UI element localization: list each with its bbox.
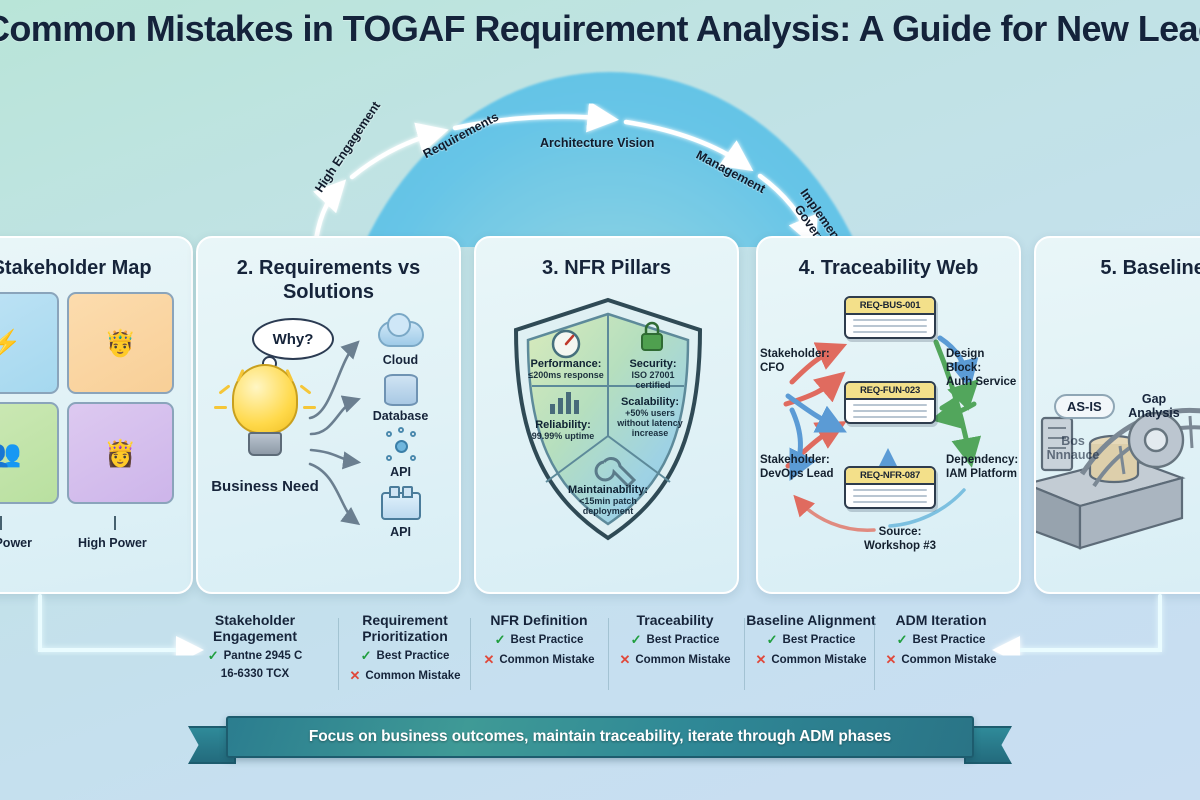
legend-good-3: ✓ Best Practice (464, 632, 614, 648)
legend-good-text-3: Best Practice (511, 634, 584, 646)
page-title: Common Mistakes in TOGAF Requirement Ana… (0, 8, 1200, 50)
why-thought-bubble: Why? (252, 318, 334, 360)
pillar-performance-detail: ≤200ms response (528, 370, 604, 380)
as-is-tag: AS-IS (1054, 394, 1115, 419)
quadrant-crowned-green-icon: 🤴 (67, 292, 174, 394)
power-interest-grid: ⚡ 🤴 👥 👸 (0, 292, 174, 504)
check-icon: ✓ (897, 632, 908, 648)
card-1-body: ⚡ 🤴 👥 👸 Low Power High Power (0, 286, 191, 562)
shield-shape (476, 286, 739, 562)
server-label: Bos Nnnauce (1038, 434, 1108, 463)
legend-bad-text-3: Common Mistake (499, 654, 594, 666)
legend-good-text-4: Best Practice (647, 634, 720, 646)
solution-api-2: API (348, 488, 453, 539)
legend-good-text-5: Best Practice (783, 634, 856, 646)
lightbulb-icon (222, 364, 308, 468)
node-stakeholder-cfo: Stakeholder:CFO (760, 348, 830, 376)
legend-item-4: Traceability ✓ Best Practice ✕ Common Mi… (600, 612, 750, 668)
legend-good-text-1: Pantne 2945 C (224, 650, 303, 662)
cross-icon: ✕ (483, 652, 494, 668)
legend-good-2: ✓ Best Practice (330, 648, 480, 664)
legend-bad-5: ✕ Common Mistake (736, 652, 886, 668)
legend-title-5: Baseline Alignment (736, 612, 886, 628)
adm-cycle-arc: High Engagement Requirements Architectur… (0, 62, 1200, 247)
quadrant-crowd-icon: 👥 (0, 402, 59, 504)
legend-good-text-6: Best Practice (913, 634, 986, 646)
api-network-icon (348, 428, 453, 464)
requirement-id-2: REQ-FUN-023 (846, 383, 934, 400)
solution-api: API (348, 428, 453, 479)
pillar-security-detail: ISO 27001 certified (614, 370, 692, 390)
card-1-heading: 1. Stakeholder Map (0, 256, 191, 280)
axis-label-low-power: Low Power (0, 536, 32, 550)
pillar-performance: Performance: ≤200ms response (528, 358, 604, 380)
pillar-reliability-detail: 99.99% uptime (528, 431, 598, 441)
pillar-security: Security: ISO 27001 certified (614, 358, 692, 390)
legend-row: Stakeholder Engagement ✓ Pantne 2945 C 1… (0, 612, 1200, 704)
legend-item-1: Stakeholder Engagement ✓ Pantne 2945 C 1… (180, 612, 330, 680)
pillar-security-name: Security: (614, 358, 692, 370)
legend-bad-6: ✕ Common Mistake (866, 652, 1016, 668)
solution-database-label: Database (348, 409, 453, 423)
card-2-heading: 2. Requirements vs Solutions (198, 256, 459, 304)
cross-icon: ✕ (349, 668, 360, 684)
legend-item-3: NFR Definition ✓ Best Practice ✕ Common … (464, 612, 614, 668)
legend-title-1: Stakeholder Engagement (180, 612, 330, 644)
legend-good-4: ✓ Best Practice (600, 632, 750, 648)
legend-bad-text-4: Common Mistake (635, 654, 730, 666)
card-row: 1. Stakeholder Map ⚡ 🤴 👥 👸 Low Power Hig… (0, 236, 1200, 596)
legend-bad-text-5: Common Mistake (771, 654, 866, 666)
requirement-id-3: REQ-NFR-087 (846, 468, 934, 485)
legend-title-4: Traceability (600, 612, 750, 628)
card-5-body: AS-IS GapAnalysis Wio… Wio… Bos Nnnauce (1036, 286, 1200, 562)
card-nfr-pillars[interactable]: 3. NFR Pillars (474, 236, 739, 594)
bridge-illustration (1036, 296, 1200, 562)
legend-good-5: ✓ Best Practice (736, 632, 886, 648)
legend-good-6: ✓ Best Practice (866, 632, 1016, 648)
card-baseline-bridge[interactable]: 5. Baseline Br (1034, 236, 1200, 594)
page-title-bar: Common Mistakes in TOGAF Requirement Ana… (0, 0, 1200, 62)
quadrant-crowned-blue-icon: 👸 (67, 402, 174, 504)
solution-cloud-label: Cloud (348, 353, 453, 367)
card-requirements-vs-solutions[interactable]: 2. Requirements vs Solutions Why? (196, 236, 461, 594)
arc-arrows (0, 62, 1200, 247)
legend-bad-text-6: Common Mistake (901, 654, 996, 666)
legend-item-2: Requirement Prioritization ✓ Best Practi… (330, 612, 480, 684)
axis-tick-high (114, 516, 116, 530)
pillar-scalability-detail: +50% users without latency increase (612, 408, 688, 438)
axis-label-high-power: High Power (78, 536, 147, 550)
pillar-maintainability: Maintainability: <15min patch deployment (556, 484, 660, 516)
legend-title-3: NFR Definition (464, 612, 614, 628)
solution-cloud: Cloud (348, 316, 453, 367)
banner-text: Focus on business outcomes, maintain tra… (309, 728, 891, 746)
legend-good-1: ✓ Pantne 2945 C (180, 648, 330, 664)
card-3-body: Performance: ≤200ms response Security: I… (476, 286, 737, 562)
legend-bad-text-1: 16-6330 TCX (221, 668, 289, 680)
requirement-card-3[interactable]: REQ-NFR-087 (844, 466, 936, 509)
cloud-icon (348, 316, 453, 352)
cross-icon: ✕ (755, 652, 766, 668)
pillar-maintainability-name: Maintainability: (556, 484, 660, 496)
quadrant-lightning-icon: ⚡ (0, 292, 59, 394)
database-icon (348, 372, 453, 408)
legend-bad-2: ✕ Common Mistake (330, 668, 480, 684)
node-stakeholder-devops: Stakeholder:DevOps Lead (760, 454, 834, 482)
card-4-heading: 4. Traceability Web (758, 256, 1019, 280)
pillar-reliability: Reliability: 99.99% uptime (528, 419, 598, 441)
legend-bad-4: ✕ Common Mistake (600, 652, 750, 668)
legend-title-6: ADM Iteration (866, 612, 1016, 628)
pillar-scalability: Scalability: +50% users without latency … (612, 396, 688, 439)
requirement-card-1[interactable]: REQ-BUS-001 (844, 296, 936, 339)
summary-banner: Focus on business outcomes, maintain tra… (188, 716, 1012, 764)
cross-icon: ✕ (885, 652, 896, 668)
solution-api-label: API (348, 465, 453, 479)
pillar-maintainability-detail: <15min patch deployment (556, 496, 660, 516)
card-4-body: REQ-BUS-001 REQ-FUN-023 REQ-NFR-087 Stak… (758, 286, 1019, 562)
gap-analysis-label: GapAnalysis (1114, 392, 1194, 421)
legend-bad-text-2: Common Mistake (365, 670, 460, 682)
legend-bad-1: 16-6330 TCX (180, 668, 330, 680)
server-icon (348, 488, 453, 524)
node-dependency-iam: Dependency:IAM Platform (946, 454, 1018, 482)
pillar-reliability-name: Reliability: (528, 419, 598, 431)
nfr-shield: Performance: ≤200ms response Security: I… (476, 286, 739, 562)
card-5-heading: 5. Baseline Br (1036, 256, 1200, 280)
check-icon: ✓ (361, 648, 372, 664)
legend-item-6: ADM Iteration ✓ Best Practice ✕ Common M… (866, 612, 1016, 668)
check-icon: ✓ (208, 648, 219, 664)
card-3-heading: 3. NFR Pillars (476, 256, 737, 280)
cross-icon: ✕ (619, 652, 630, 668)
check-icon: ✓ (495, 632, 506, 648)
requirement-id-1: REQ-BUS-001 (846, 298, 934, 315)
check-icon: ✓ (767, 632, 778, 648)
legend-good-text-2: Best Practice (377, 650, 450, 662)
business-need-label: Business Need (210, 478, 320, 496)
pillar-performance-name: Performance: (528, 358, 604, 370)
node-design-block: Design Block:Auth Service (946, 348, 1019, 389)
pillar-scalability-name: Scalability: (612, 396, 688, 408)
node-source-workshop: Source:Workshop #3 (850, 526, 950, 554)
arc-label-3: Architecture Vision (540, 136, 654, 150)
solution-database: Database (348, 372, 453, 423)
card-traceability-web[interactable]: 4. Traceability Web (756, 236, 1021, 594)
solution-api-2-label: API (348, 525, 453, 539)
legend-bad-3: ✕ Common Mistake (464, 652, 614, 668)
check-icon: ✓ (631, 632, 642, 648)
card-2-body: Why? Business Need Cloud Database (198, 310, 459, 586)
card-stakeholder-map[interactable]: 1. Stakeholder Map ⚡ 🤴 👥 👸 Low Power Hig… (0, 236, 193, 594)
legend-title-2: Requirement Prioritization (330, 612, 480, 644)
banner-body: Focus on business outcomes, maintain tra… (226, 716, 974, 758)
axis-tick-low (0, 516, 2, 530)
requirement-card-2[interactable]: REQ-FUN-023 (844, 381, 936, 424)
legend-item-5: Baseline Alignment ✓ Best Practice ✕ Com… (736, 612, 886, 668)
why-text: Why? (273, 331, 314, 348)
